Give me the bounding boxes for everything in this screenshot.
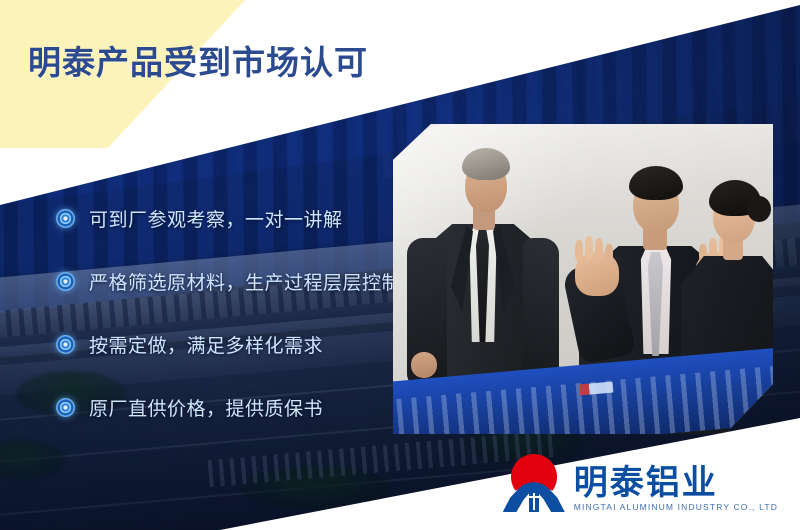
hand-in-pocket — [411, 352, 437, 378]
feature-label: 严格筛选原材料，生产过程层层控制 — [89, 268, 401, 295]
company-logo: 明泰铝业 MINGTAI ALUMINUM INDUSTRY CO., LTD — [503, 454, 778, 512]
list-item: 原厂直供价格，提供质保书 — [56, 394, 401, 421]
list-item: 可到厂参观考察，一对一讲解 — [56, 205, 401, 232]
finger — [575, 240, 583, 262]
finger — [585, 236, 593, 260]
mingtai-sun-mountain-icon — [503, 454, 565, 512]
finger — [595, 238, 603, 261]
feature-label: 可到厂参观考察，一对一讲解 — [89, 205, 343, 232]
target-circle-icon — [56, 209, 75, 228]
business-people-photo — [393, 124, 773, 434]
page-title: 明泰产品受到市场认可 — [28, 46, 368, 79]
target-circle-icon — [56, 335, 75, 354]
hair — [462, 148, 510, 180]
hair — [629, 166, 683, 200]
company-name-en: MINGTAI ALUMINUM INDUSTRY CO., LTD — [574, 502, 778, 512]
mountain-cross-horizontal — [528, 496, 540, 498]
target-circle-icon — [56, 398, 75, 417]
right-arm — [523, 238, 559, 388]
hair-bun — [747, 196, 771, 222]
finger — [605, 244, 613, 264]
list-item: 按需定做，满足多样化需求 — [56, 331, 401, 358]
company-name-cn: 明泰铝业 — [574, 466, 718, 500]
logo-text-block: 明泰铝业 MINGTAI ALUMINUM INDUSTRY CO., LTD — [574, 466, 778, 512]
photo-inner — [393, 124, 773, 434]
feature-list: 可到厂参观考察，一对一讲解 严格筛选原材料，生产过程层层控制 按需定做，满足多样… — [56, 205, 401, 421]
feature-label: 按需定做，满足多样化需求 — [89, 331, 323, 358]
promotional-banner: 明泰产品受到市场认可 可到厂参观考察，一对一讲解 严格筛选原材料，生产过程层层控… — [0, 0, 800, 530]
feature-label: 原厂直供价格，提供质保书 — [89, 394, 323, 421]
target-circle-icon — [56, 272, 75, 291]
list-item: 严格筛选原材料，生产过程层层控制 — [56, 268, 401, 295]
